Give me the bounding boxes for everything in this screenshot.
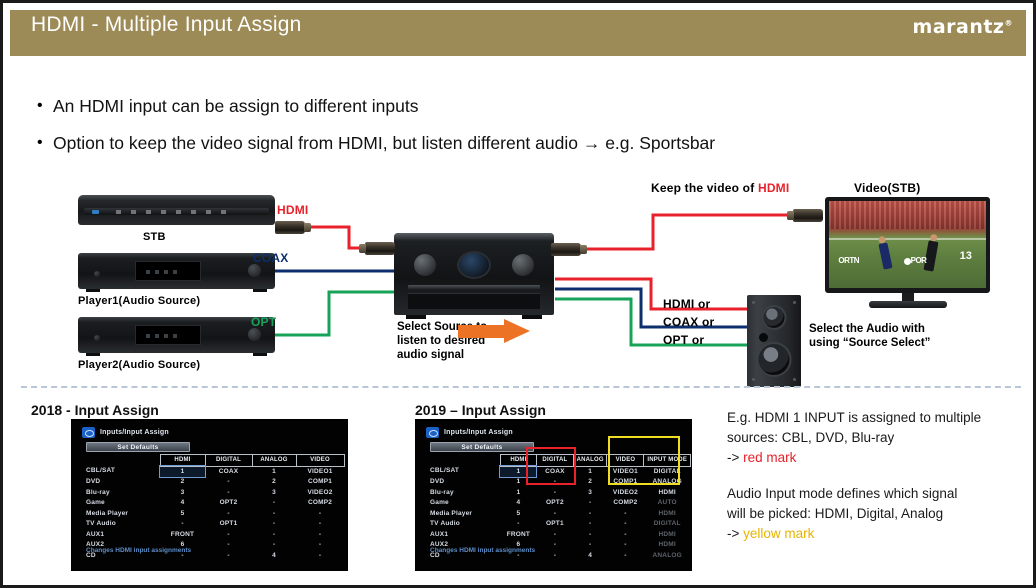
explanation-line-4: Audio Input mode defines which signal xyxy=(727,484,1027,504)
output-or-hdmi: or xyxy=(694,297,710,311)
tv-stand-base xyxy=(869,301,947,308)
cell-digital[interactable]: - xyxy=(536,509,573,520)
cell-analog[interactable]: - xyxy=(573,540,607,551)
cell-digital[interactable]: OPT2 xyxy=(536,498,573,509)
speaker-screw-br xyxy=(793,378,796,381)
table-header-row-2018: HDMIDIGITALANALOGVIDEO xyxy=(86,455,344,467)
player2-feet xyxy=(86,353,267,356)
player2-knob-icon xyxy=(248,328,261,341)
cell-hdmi[interactable]: 5 xyxy=(500,509,536,520)
cell-analog[interactable]: - xyxy=(252,519,296,530)
table-row[interactable]: Media Player5--- xyxy=(86,509,344,520)
speaker-note-line-1: Select the Audio with xyxy=(809,322,930,336)
explanation-line-1: E.g. HDMI 1 INPUT is assigned to multipl… xyxy=(727,408,1027,428)
cell-analog[interactable]: - xyxy=(573,519,607,530)
section-divider xyxy=(21,386,1021,388)
orange-arrow-icon xyxy=(458,319,530,343)
tv-overlay-left: ORTN xyxy=(838,256,859,265)
speaker-port-icon xyxy=(759,333,768,342)
cell-video[interactable]: - xyxy=(296,551,344,562)
row-label-cbl-sat: CBL/SAT xyxy=(86,466,160,477)
row-label-media-player: Media Player xyxy=(86,509,160,520)
avr-trim-bar xyxy=(408,285,540,290)
cell-video[interactable]: - xyxy=(296,540,344,551)
label-hdmi-in: HDMI xyxy=(277,203,308,217)
cell-video[interactable]: VIDEO2 xyxy=(607,488,644,499)
row-label-tv-audio: TV Audio xyxy=(86,519,160,530)
cell-video[interactable]: - xyxy=(607,530,644,541)
yellow-highlight-mark xyxy=(608,436,680,485)
label-opt-in: OPT xyxy=(251,315,276,329)
cell-hdmi[interactable]: 4 xyxy=(500,498,536,509)
table-row[interactable]: DVD2-2COMP1 xyxy=(86,477,344,488)
row-label-dvd: DVD xyxy=(86,477,160,488)
table-row[interactable]: Media Player5---HDMI xyxy=(430,509,691,520)
arrow-prefix-yellow: -> xyxy=(727,526,743,541)
av-receiver-device xyxy=(394,233,554,315)
cell-digital[interactable]: COAX xyxy=(205,466,252,477)
cell-digital[interactable]: - xyxy=(205,477,252,488)
row-label-media-player: Media Player xyxy=(430,509,500,520)
label-coax-in: COAX xyxy=(253,251,288,265)
stb-label: STB xyxy=(143,231,166,243)
cell-hdmi[interactable]: 4 xyxy=(160,498,205,509)
avr-display xyxy=(457,251,491,279)
page-title: HDMI - Multiple Input Assign xyxy=(31,13,302,37)
input-assign-table-2018: HDMIDIGITALANALOGVIDEO CBL/SAT1COAX1VIDE… xyxy=(86,454,345,561)
cell-digital[interactable]: OPT1 xyxy=(205,519,252,530)
cell-input-mode[interactable]: HDMI xyxy=(644,530,691,541)
cell-hdmi[interactable]: - xyxy=(160,519,205,530)
cell-digital[interactable]: - xyxy=(536,551,573,562)
cell-hdmi[interactable]: FRONT xyxy=(500,530,536,541)
speaker-tweeter-icon xyxy=(762,305,787,330)
cell-analog[interactable]: 3 xyxy=(252,488,296,499)
cell-analog[interactable]: - xyxy=(252,540,296,551)
cell-digital[interactable]: OPT2 xyxy=(205,498,252,509)
row-label-aux1: AUX1 xyxy=(86,530,160,541)
wire-hdmi-avr-speaker xyxy=(555,279,747,309)
cell-video[interactable]: - xyxy=(607,519,644,530)
cell-input-mode[interactable]: HDMI xyxy=(644,540,691,551)
hdmi-connector-avr-in xyxy=(365,242,395,255)
arrow-head xyxy=(504,319,530,343)
tv-label: Video(STB) xyxy=(854,181,920,195)
cell-input-mode[interactable]: ANALOG xyxy=(644,551,691,562)
cell-video[interactable]: VIDEO1 xyxy=(296,466,344,477)
inputs-menu-icon xyxy=(426,427,439,438)
table-row[interactable]: TV Audio-OPT1--DIGITAL xyxy=(430,519,691,530)
table-corner-cell xyxy=(430,455,500,467)
osd2019-header: Inputs/Input Assign xyxy=(426,427,513,438)
cell-digital[interactable]: - xyxy=(205,540,252,551)
row-label-blu-ray: Blu-ray xyxy=(430,488,500,499)
cell-input-mode[interactable]: AUTO xyxy=(644,498,691,509)
cell-video[interactable]: - xyxy=(607,551,644,562)
arrow-shaft xyxy=(458,325,506,338)
cell-digital[interactable]: - xyxy=(536,540,573,551)
explanation-line-2: sources: CBL, DVD, Blu-ray xyxy=(727,428,1027,448)
avr-top-panel xyxy=(394,233,554,241)
cell-hdmi[interactable]: 1 xyxy=(160,466,205,477)
explanation-text: E.g. HDMI 1 INPUT is assigned to multipl… xyxy=(727,408,1027,544)
tv-overlay-right: POR xyxy=(911,256,927,265)
yellow-mark-text: yellow mark xyxy=(743,526,814,541)
table-corner-cell xyxy=(86,455,160,467)
output-label-hdmi: HDMI or xyxy=(663,297,710,311)
cell-video[interactable]: COMP1 xyxy=(296,477,344,488)
bullet-text: Option to keep the video signal from HDM… xyxy=(53,132,715,154)
cell-analog[interactable]: - xyxy=(252,509,296,520)
set-defaults-button-2019[interactable]: Set Defaults xyxy=(430,442,534,452)
keep-video-prefix: Keep the video of xyxy=(651,181,758,195)
osd2019-footer-note: Changes HDMI input assignments xyxy=(430,547,535,554)
bullet-item: • An HDMI input can be assign to differe… xyxy=(37,95,937,117)
bullet-text: An HDMI input can be assign to different… xyxy=(53,95,418,117)
hdmi-connector-stb xyxy=(275,221,305,234)
cell-digital[interactable]: - xyxy=(536,488,573,499)
cell-analog[interactable]: 4 xyxy=(252,551,296,562)
speaker-woofer-icon xyxy=(757,342,792,377)
table-row[interactable]: TV Audio-OPT1-- xyxy=(86,519,344,530)
marantz-logo: marantz® xyxy=(913,16,1013,38)
avr-lower-panel xyxy=(408,293,540,309)
output-sig-coax: COAX xyxy=(663,315,698,329)
cell-hdmi[interactable]: FRONT xyxy=(160,530,205,541)
table-row[interactable]: AUX1FRONT--- xyxy=(86,530,344,541)
output-sig-hdmi: HDMI xyxy=(663,297,694,311)
player2-label: Player2(Audio Source) xyxy=(78,359,200,371)
output-label-coax: COAX or xyxy=(663,315,714,329)
tv-player-blue xyxy=(878,242,892,269)
output-sig-opt: OPT xyxy=(663,333,688,347)
keep-video-note: Keep the video of HDMI xyxy=(651,181,789,195)
tv-device: ORTN POR 13 xyxy=(825,197,990,309)
cell-video[interactable]: - xyxy=(607,509,644,520)
hdmi-connector-avr-out xyxy=(551,243,581,256)
brand-text: marantz xyxy=(913,16,1005,38)
cell-video[interactable]: COMP2 xyxy=(296,498,344,509)
speaker-screw-tl xyxy=(752,301,755,304)
tv-jersey-number: 13 xyxy=(960,250,972,262)
red-highlight-mark xyxy=(526,447,576,485)
cell-input-mode[interactable]: HDMI xyxy=(644,509,691,520)
tv-screen: ORTN POR 13 xyxy=(829,201,986,288)
cell-hdmi[interactable]: 5 xyxy=(160,509,205,520)
table-row[interactable]: Blu-ray3-3VIDEO2 xyxy=(86,488,344,499)
hdmi-connector-tv xyxy=(793,209,823,222)
cell-analog[interactable]: - xyxy=(573,498,607,509)
output-or-opt: or xyxy=(688,333,704,347)
column-header-video: VIDEO xyxy=(296,455,344,467)
speaker-device xyxy=(747,295,801,387)
cell-analog[interactable]: 4 xyxy=(573,551,607,562)
bullet-list: • An HDMI input can be assign to differe… xyxy=(37,95,937,169)
row-label-cbl-sat: CBL/SAT xyxy=(430,466,500,477)
osd-panel-2018: Inputs/Input Assign Set Defaults HDMIDIG… xyxy=(71,419,348,571)
speaker-select-note: Select the Audio with using “Source Sele… xyxy=(809,322,930,350)
stb-buttons-icon xyxy=(116,210,236,214)
cell-analog[interactable]: 2 xyxy=(573,477,607,488)
cell-video[interactable]: VIDEO2 xyxy=(296,488,344,499)
row-label-game: Game xyxy=(86,498,160,509)
explanation-line-5: will be picked: HDMI, Digital, Analog xyxy=(727,504,1027,524)
signal-flow-diagram: STB Player1(Audio Source) Player2(Audio … xyxy=(3,175,1036,375)
cell-hdmi[interactable]: - xyxy=(500,519,536,530)
cell-digital[interactable]: - xyxy=(205,551,252,562)
cell-video[interactable]: - xyxy=(296,509,344,520)
set-defaults-button-2018[interactable]: Set Defaults xyxy=(86,442,190,452)
bullet-dot-icon: • xyxy=(37,95,53,117)
tv-bezel: ORTN POR 13 xyxy=(825,197,990,293)
cell-analog[interactable]: - xyxy=(252,530,296,541)
column-header-hdmi: HDMI xyxy=(160,455,205,467)
avr-note-line-3: audio signal xyxy=(397,348,487,362)
bullet-dot-icon: • xyxy=(37,132,53,154)
player1-display xyxy=(135,261,201,281)
bullet-item: • Option to keep the video signal from H… xyxy=(37,132,937,154)
cell-analog[interactable]: 3 xyxy=(573,488,607,499)
avr-foot-left xyxy=(406,315,426,319)
output-or-coax: or xyxy=(698,315,714,329)
cell-analog[interactable]: 1 xyxy=(252,466,296,477)
column-header-digital: DIGITAL xyxy=(205,455,252,467)
text-gap xyxy=(727,468,1027,484)
arrow-prefix-red: -> xyxy=(727,450,743,465)
stb-led-icon xyxy=(92,210,99,214)
row-label-game: Game xyxy=(430,498,500,509)
keep-video-hdmi: HDMI xyxy=(758,181,789,195)
cell-digital[interactable]: - xyxy=(536,530,573,541)
row-label-tv-audio: TV Audio xyxy=(430,519,500,530)
cell-hdmi[interactable]: 2 xyxy=(160,477,205,488)
osd2018-menu-title: Inputs/Input Assign xyxy=(100,429,169,436)
explanation-line-6: -> yellow mark xyxy=(727,524,1027,544)
tv-pitch-line xyxy=(829,238,986,240)
explanation-line-3: -> red mark xyxy=(727,448,1027,468)
speaker-screw-tr xyxy=(793,301,796,304)
cell-input-mode[interactable]: HDMI xyxy=(644,488,691,499)
speaker-note-line-2: using “Source Select” xyxy=(809,336,930,350)
inputs-menu-icon xyxy=(82,427,95,438)
slide-root: HDMI - Multiple Input Assign marantz® • … xyxy=(0,0,1036,588)
cell-digital[interactable]: OPT1 xyxy=(536,519,573,530)
player2-display xyxy=(135,325,201,345)
row-label-dvd: DVD xyxy=(430,477,500,488)
section-title-2018: 2018 - Input Assign xyxy=(31,402,159,418)
cell-analog[interactable]: - xyxy=(573,509,607,520)
player1-power-icon xyxy=(94,271,100,277)
cell-video[interactable]: - xyxy=(296,530,344,541)
player2-power-icon xyxy=(94,335,100,341)
section-title-2019: 2019 – Input Assign xyxy=(415,402,546,418)
cell-analog[interactable]: - xyxy=(573,530,607,541)
stb-device xyxy=(78,195,275,225)
avr-right-knob-icon xyxy=(512,254,534,276)
cell-video[interactable]: - xyxy=(296,519,344,530)
cell-hdmi[interactable]: 3 xyxy=(160,488,205,499)
tv-soccer-image: ORTN POR 13 xyxy=(829,201,986,288)
table-row[interactable]: Blu-ray1-3VIDEO2HDMI xyxy=(430,488,691,499)
player2-device xyxy=(78,317,275,353)
osd2018-header: Inputs/Input Assign xyxy=(82,427,169,438)
column-header-analog: ANALOG xyxy=(573,455,607,467)
table-row[interactable]: AUX1FRONT---HDMI xyxy=(430,530,691,541)
row-label-blu-ray: Blu-ray xyxy=(86,488,160,499)
player1-label: Player1(Audio Source) xyxy=(78,295,200,307)
red-mark-text: red mark xyxy=(743,450,796,465)
player1-device xyxy=(78,253,275,289)
player1-feet xyxy=(86,289,267,292)
cell-analog[interactable]: 1 xyxy=(573,466,607,477)
wire-hdmi-avr-tv xyxy=(555,215,793,249)
column-header-analog: ANALOG xyxy=(252,455,296,467)
table-row[interactable]: CBL/SAT1COAX1VIDEO1 xyxy=(86,466,344,477)
row-label-aux1: AUX1 xyxy=(430,530,500,541)
cell-analog[interactable]: 2 xyxy=(252,477,296,488)
cell-digital[interactable]: - xyxy=(205,488,252,499)
table-row[interactable]: Game4OPT2-COMP2AUTO xyxy=(430,498,691,509)
cell-video[interactable]: COMP2 xyxy=(607,498,644,509)
tv-crowd xyxy=(829,201,986,229)
cell-hdmi[interactable]: 1 xyxy=(500,488,536,499)
speaker-screw-bl xyxy=(752,378,755,381)
table-row[interactable]: Game4OPT2-COMP2 xyxy=(86,498,344,509)
player1-knob-icon xyxy=(248,264,261,277)
cell-video[interactable]: - xyxy=(607,540,644,551)
osd2019-menu-title: Inputs/Input Assign xyxy=(444,429,513,436)
cell-analog[interactable]: - xyxy=(252,498,296,509)
wire-opt-player2-avr xyxy=(275,292,395,335)
avr-left-knob-icon xyxy=(414,254,436,276)
cell-digital[interactable]: - xyxy=(205,509,252,520)
cell-digital[interactable]: - xyxy=(205,530,252,541)
cell-input-mode[interactable]: DIGITAL xyxy=(644,519,691,530)
output-label-opt: OPT or xyxy=(663,333,704,347)
osd2018-footer-note: Changes HDMI input assignments xyxy=(86,547,191,554)
